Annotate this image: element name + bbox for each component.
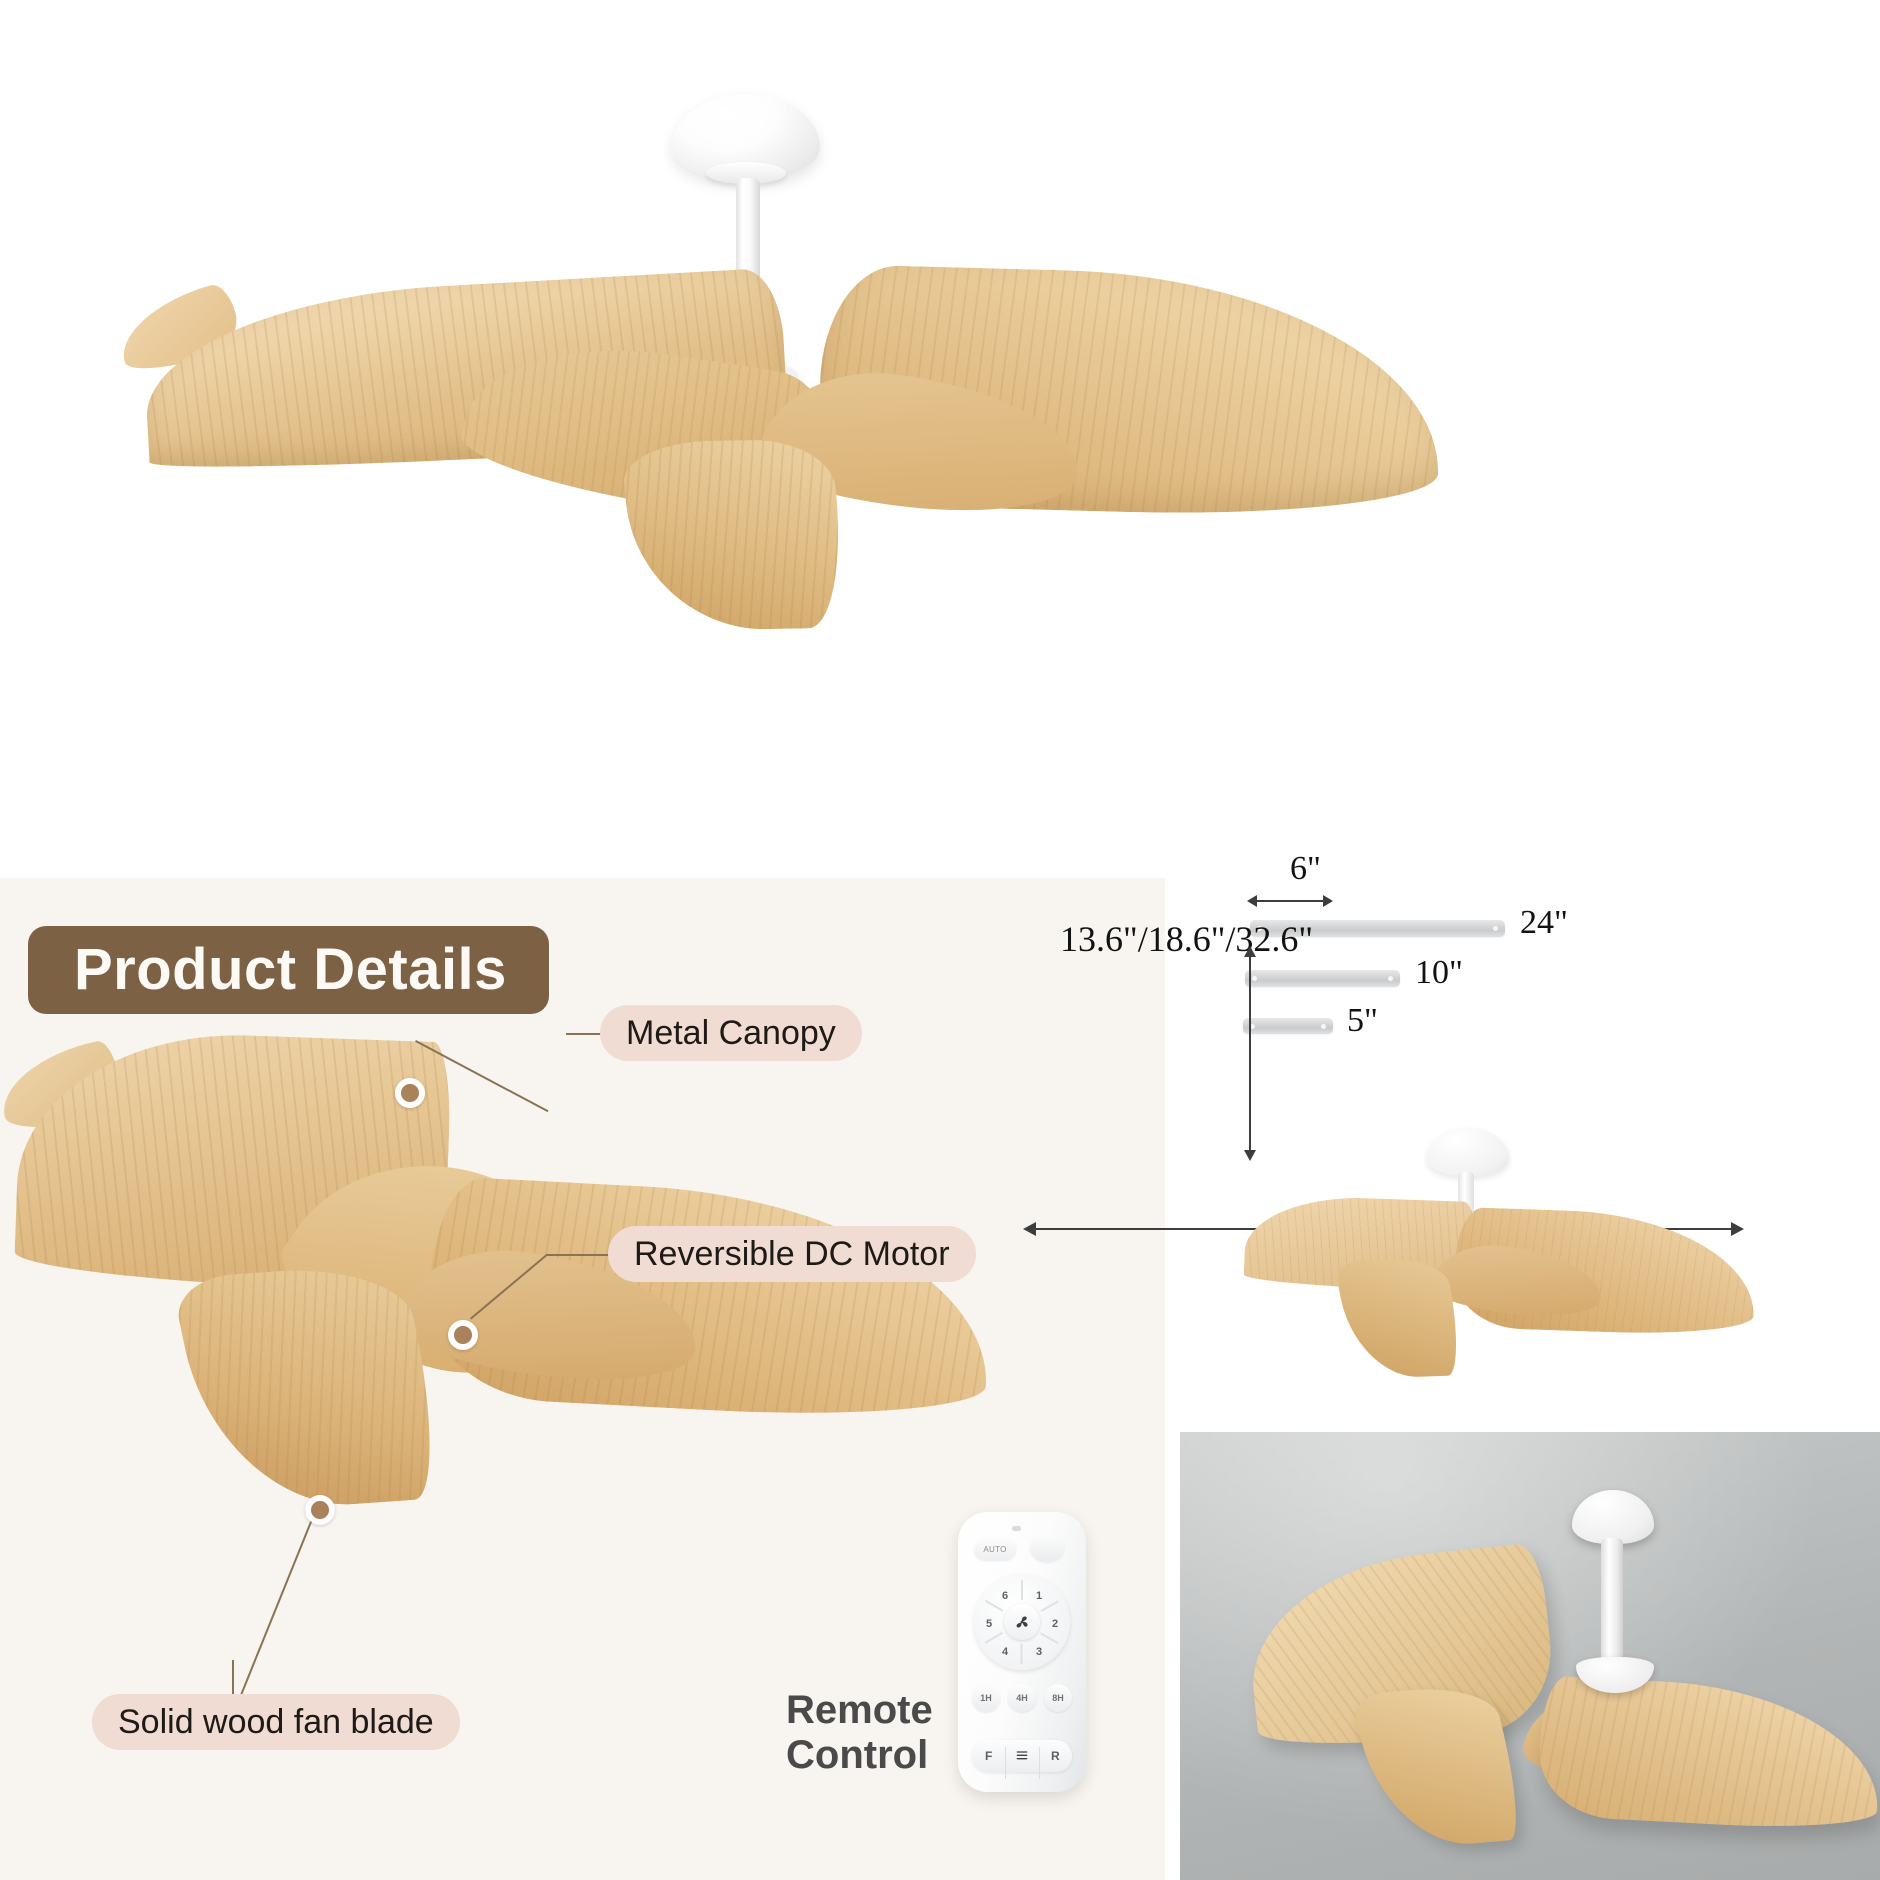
power-icon[interactable] — [1030, 1534, 1064, 1562]
remote-control[interactable]: AUTO 1 2 3 4 5 6 — [958, 1512, 1086, 1792]
hotspot-metal-canopy[interactable] — [395, 1078, 425, 1108]
canopy-width-arrow-left — [1247, 895, 1257, 907]
timer-4h-button[interactable]: 4H — [1008, 1684, 1036, 1712]
blade-bottom — [620, 439, 851, 632]
infographic-root: Product Details Metal Canopy Reversible … — [0, 0, 1880, 1880]
blade-span-arrow-right — [1731, 1222, 1744, 1236]
downrod-10-label: 10" — [1415, 954, 1463, 992]
hero-product-image — [0, 0, 1880, 878]
callout-label-reversible-dc-motor: Reversible DC Motor — [634, 1235, 950, 1274]
downrod-5-label: 5" — [1347, 1002, 1378, 1040]
remote-control-title: Remote Control — [786, 1688, 933, 1778]
product-details-title-badge: Product Details — [28, 926, 549, 1014]
callout-reversible-dc-motor[interactable]: Reversible DC Motor — [608, 1226, 976, 1282]
direction-light-button-group: F R — [972, 1740, 1072, 1772]
speed-button-5[interactable]: 5 — [986, 1618, 992, 1630]
remote-led-indicator — [1012, 1526, 1021, 1531]
hotspot-reversible-dc-motor[interactable] — [448, 1320, 478, 1350]
installed-room-photo — [1180, 1432, 1880, 1880]
callout-label-solid-wood-fan-blade: Solid wood fan blade — [118, 1703, 434, 1742]
speed-button-4[interactable]: 4 — [1002, 1646, 1008, 1658]
reverse-button[interactable]: R — [1039, 1740, 1072, 1772]
callout-solid-wood-fan-blade[interactable]: Solid wood fan blade — [92, 1694, 460, 1750]
callout-label-metal-canopy: Metal Canopy — [626, 1014, 836, 1053]
speed-button-6[interactable]: 6 — [1002, 1590, 1008, 1602]
leader-line-blade-vertical — [232, 1660, 234, 1694]
timer-1h-button[interactable]: 1H — [972, 1684, 1000, 1712]
dial-spoke — [985, 1600, 1003, 1611]
canopy-width-label: 6" — [1290, 850, 1321, 888]
drop-height-label: 13.6"/18.6"/32.6" — [1060, 918, 1313, 960]
auto-button-label: AUTO — [983, 1545, 1006, 1554]
timer-8h-label: 8H — [1052, 1693, 1064, 1703]
downrod-24-label: 24" — [1520, 904, 1568, 942]
dial-spoke — [985, 1632, 1003, 1643]
downrod-5-bar — [1243, 1018, 1333, 1034]
light-icon[interactable] — [1005, 1740, 1038, 1772]
drop-height-arrow-up — [1244, 946, 1256, 957]
timer-4h-label: 4H — [1016, 1693, 1028, 1703]
remote-title-line-1: Remote — [786, 1688, 933, 1733]
speed-dial[interactable]: 1 2 3 4 5 6 — [974, 1574, 1070, 1670]
button-divider — [1039, 1747, 1040, 1779]
drop-height-arrow-down — [1244, 1150, 1256, 1161]
dial-spoke — [1040, 1632, 1058, 1643]
dial-spoke — [1040, 1600, 1058, 1611]
dimensions-panel: 24" 10" 5" 6" 13.6"/18.6"/32.6" 52" — [1165, 878, 1880, 1438]
forward-button[interactable]: F — [972, 1740, 1005, 1772]
callout-metal-canopy[interactable]: Metal Canopy — [600, 1005, 862, 1061]
timer-1h-label: 1H — [980, 1693, 992, 1703]
auto-button[interactable]: AUTO — [974, 1538, 1016, 1560]
drop-height-line — [1249, 956, 1251, 1156]
fan-icon[interactable] — [1004, 1604, 1040, 1640]
downrod-10-bar — [1245, 970, 1400, 987]
remote-title-line-2: Control — [786, 1733, 933, 1778]
speed-button-1[interactable]: 1 — [1036, 1590, 1042, 1602]
page-title: Product Details — [74, 941, 507, 999]
blade-span-arrow-left — [1023, 1222, 1036, 1236]
dial-spoke — [1021, 1644, 1023, 1664]
timer-8h-button[interactable]: 8H — [1044, 1684, 1072, 1712]
dial-spoke — [1021, 1580, 1023, 1600]
canopy-width-line — [1253, 900, 1325, 902]
speed-button-2[interactable]: 2 — [1052, 1618, 1058, 1630]
speed-button-3[interactable]: 3 — [1036, 1646, 1042, 1658]
room-downrod — [1601, 1538, 1623, 1668]
button-divider — [1005, 1747, 1006, 1779]
canopy-width-arrow-right — [1323, 895, 1333, 907]
